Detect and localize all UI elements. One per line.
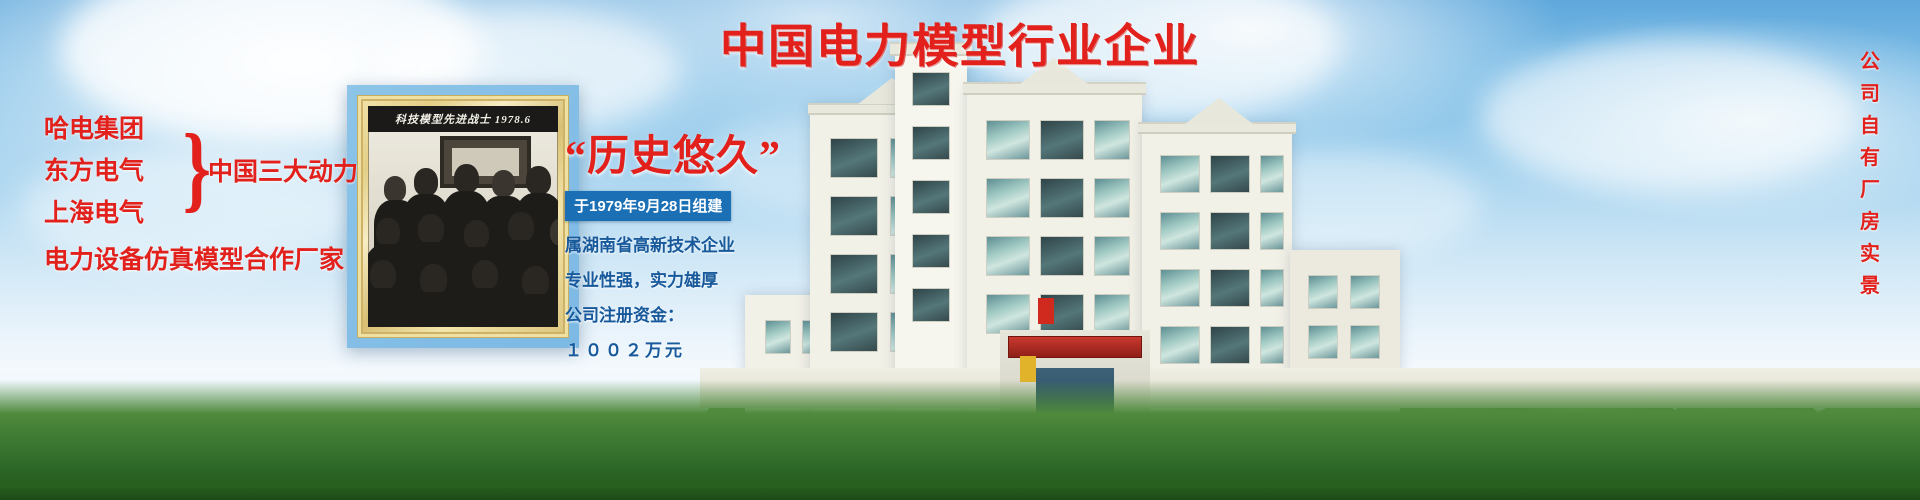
vertical-char-6: 房	[1860, 212, 1880, 232]
photo-banner-text: 科技模型先进战士 1978.6	[368, 106, 558, 132]
three-power-label: 中国三大动力	[208, 152, 358, 188]
page-title: 中国电力模型行业企业	[0, 10, 1920, 76]
flag-icon	[1020, 356, 1036, 382]
partner-companies-block: 哈电集团 东方电气 上海电气 } 中国三大动力 电力设备仿真模型合作厂家	[30, 108, 390, 276]
detail-line-2: 专业性强，实力雄厚	[565, 266, 815, 291]
partner-list: 哈电集团 东方电气 上海电气 } 中国三大动力	[30, 108, 390, 232]
detail-line-1: 属湖南省高新技术企业	[565, 231, 815, 256]
company-history-block: “历史悠久” 于1979年9月28日组建 属湖南省高新技术企业 专业性强，实力雄…	[565, 122, 815, 361]
vertical-char-7: 实	[1860, 244, 1880, 264]
vertical-char-4: 有	[1860, 148, 1880, 168]
history-quote: “历史悠久”	[565, 122, 815, 183]
promo-banner: 中国电力模型行业企业 哈电集团 东方电气 上海电气 } 中国三大动力 电力设备仿…	[0, 0, 1920, 500]
vertical-char-5: 厂	[1860, 180, 1880, 200]
detail-line-4: １００２万元	[565, 336, 815, 361]
cooperation-label: 电力设备仿真模型合作厂家	[30, 240, 390, 276]
curly-brace-icon: }	[183, 98, 211, 238]
detail-line-3: 公司注册资金：	[565, 301, 815, 326]
flag-icon	[1038, 298, 1054, 324]
vertical-char-2: 司	[1860, 84, 1880, 104]
vertical-char-1: 公	[1860, 52, 1880, 72]
founded-date-badge: 于1979年9月28日组建	[565, 191, 731, 221]
vertical-char-3: 自	[1860, 116, 1880, 136]
vertical-char-8: 景	[1860, 276, 1880, 296]
entrance-sign	[1008, 336, 1142, 358]
vertical-caption: 公 司 自 有 厂 房 实 景	[1860, 52, 1880, 296]
historical-group-photo: 科技模型先进战士 1978.6	[368, 106, 558, 327]
grass-edge	[0, 466, 1920, 500]
